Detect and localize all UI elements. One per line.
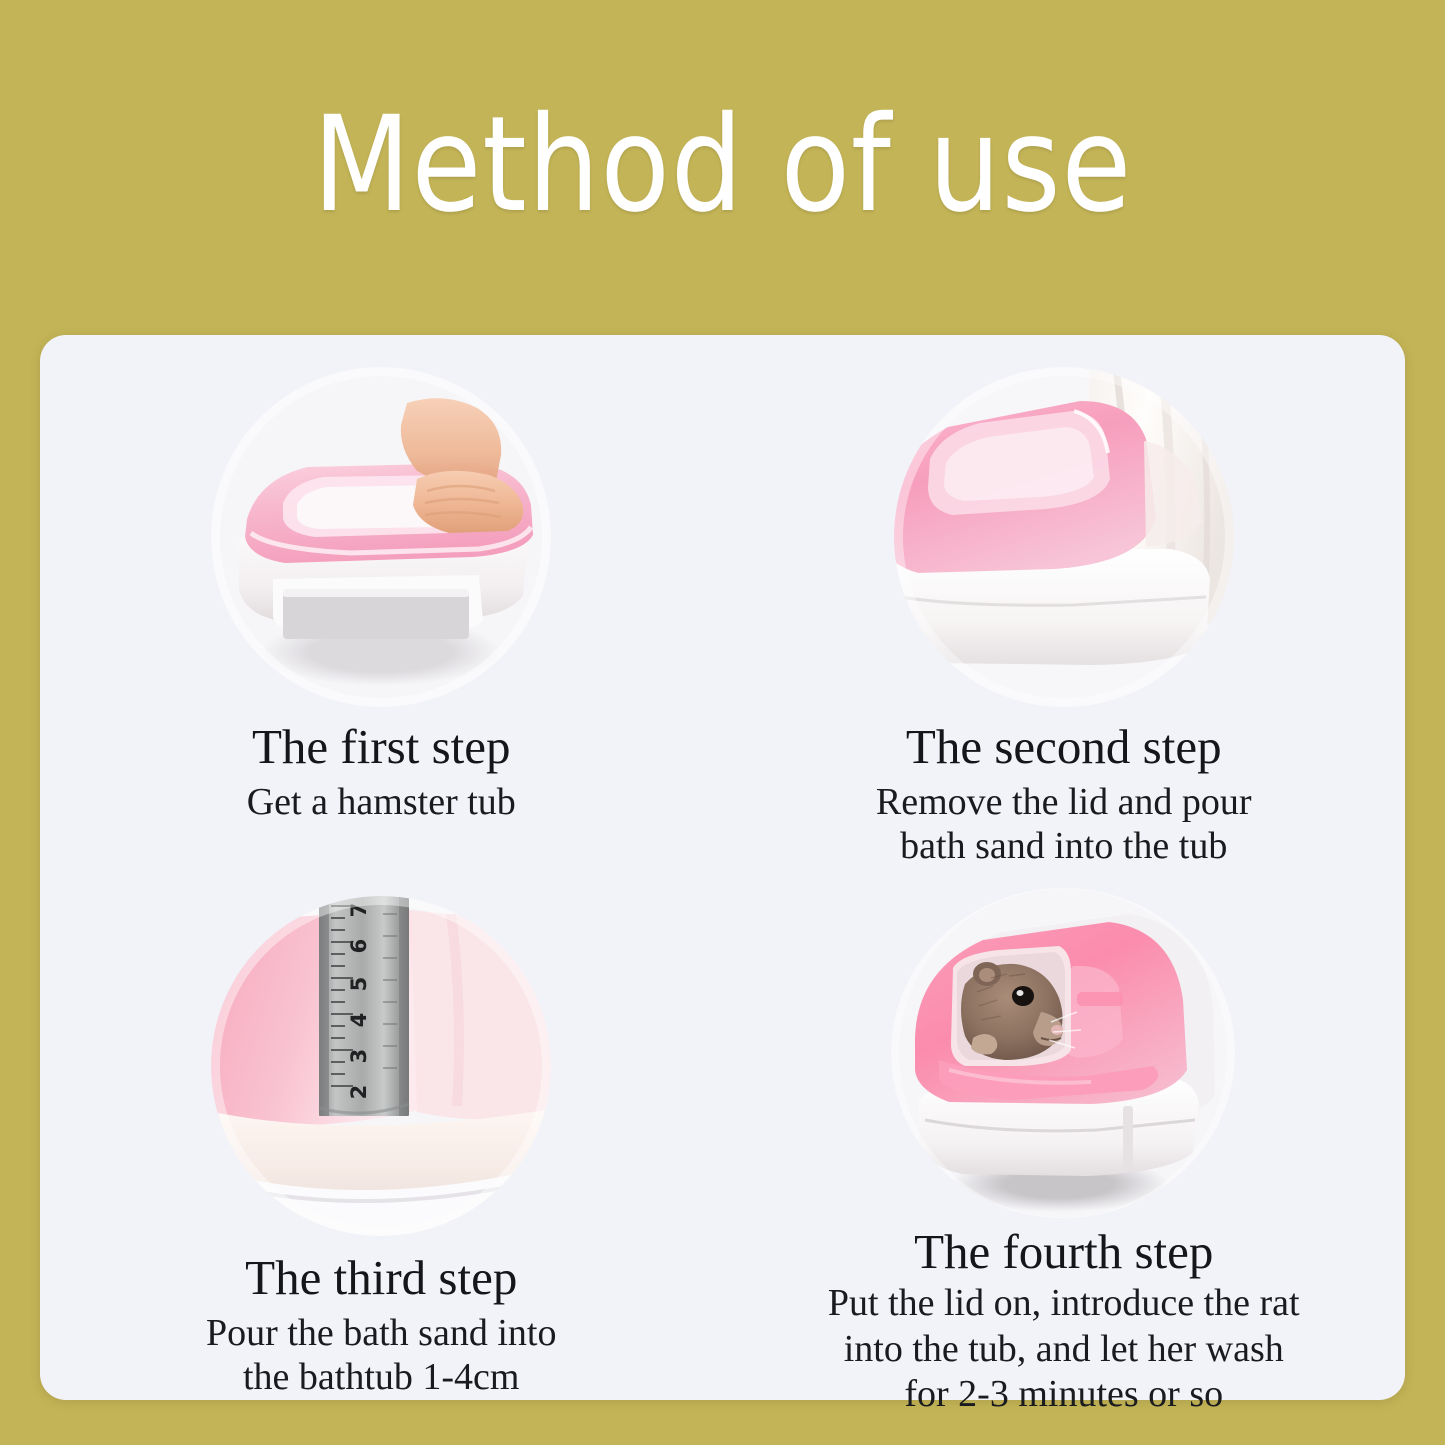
steps-grid: The first step Get a hamster tub	[40, 335, 1405, 1400]
step-item-2: The second step Remove the lid and pour …	[723, 335, 1406, 868]
svg-text:3: 3	[347, 1049, 371, 1064]
step-item-1: The first step Get a hamster tub	[40, 335, 723, 868]
poster-root: Method of use	[0, 0, 1445, 1445]
step-2-photo	[894, 367, 1234, 707]
step-2-body: Remove the lid and pour bath sand into t…	[876, 780, 1252, 868]
step-2-title: The second step	[906, 721, 1222, 774]
step-4-body: Put the lid on, introduce the rat into t…	[828, 1281, 1300, 1418]
step-item-3: 7 6 5 4 3 2	[40, 868, 723, 1418]
steps-card: The first step Get a hamster tub	[40, 335, 1405, 1400]
step-3-photo: 7 6 5 4 3 2	[211, 896, 551, 1236]
step-3-body: Pour the bath sand into the bathtub 1-4c…	[206, 1311, 556, 1399]
step-1-title: The first step	[252, 721, 511, 774]
step-4-photo	[891, 888, 1236, 1218]
svg-text:6: 6	[347, 939, 371, 954]
step-item-4: The fourth step Put the lid on, introduc…	[723, 868, 1406, 1418]
title-area: Method of use	[0, 0, 1445, 320]
step-3-title: The third step	[245, 1252, 517, 1305]
step-1-photo	[211, 367, 551, 707]
page-title: Method of use	[313, 99, 1132, 231]
svg-text:2: 2	[347, 1085, 371, 1100]
step-1-body: Get a hamster tub	[247, 780, 516, 824]
svg-text:4: 4	[347, 1013, 371, 1028]
svg-text:5: 5	[347, 977, 371, 992]
step-4-title: The fourth step	[914, 1226, 1213, 1279]
